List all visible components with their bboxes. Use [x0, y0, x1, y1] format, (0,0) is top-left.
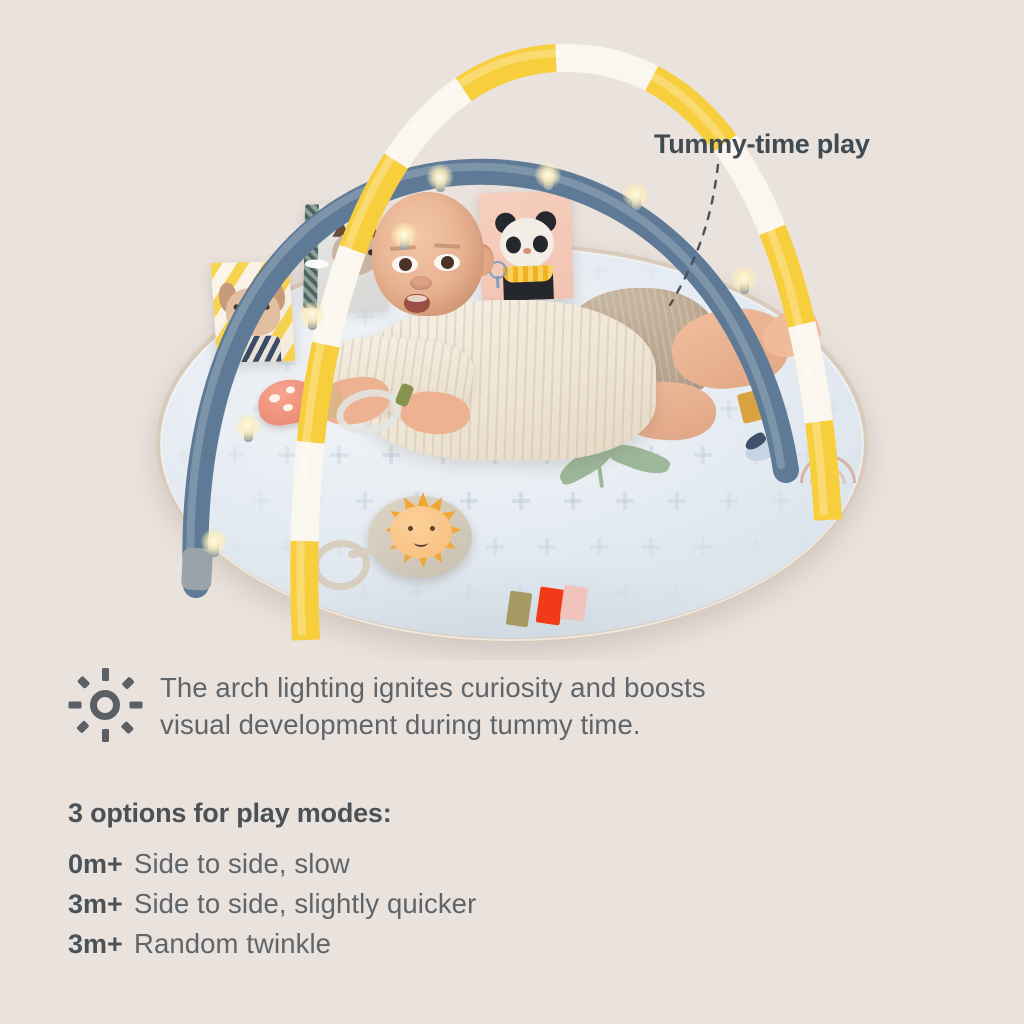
- sun-icon-ray: [77, 676, 90, 689]
- ribbon-tag-olive: [506, 591, 533, 628]
- arch-led-light: [731, 266, 757, 292]
- play-modes-title: 3 options for play modes:: [68, 798, 392, 829]
- play-mode-age: 3m+: [68, 889, 130, 920]
- arch-led-light: [391, 222, 417, 248]
- feature-description-line-1: The arch lighting ignites curiosity and …: [160, 670, 706, 707]
- callout-label: Tummy-time play: [654, 129, 870, 160]
- sun-icon-ray: [102, 729, 109, 742]
- panda-collar: [503, 265, 554, 283]
- ribbon-tag-red: [536, 587, 565, 626]
- cat-eye-left: [342, 249, 348, 255]
- sun-icon-ring: [90, 690, 120, 720]
- arch-led-light: [201, 529, 227, 555]
- feature-description-line-2: visual development during tummy time.: [160, 707, 706, 744]
- sun-icon-ray: [76, 720, 89, 733]
- cat-blush-left: [334, 255, 343, 260]
- feature-block: The arch lighting ignites curiosity and …: [68, 666, 968, 743]
- feature-row: The arch lighting ignites curiosity and …: [68, 666, 968, 743]
- play-mode-description: Random twinkle: [134, 928, 331, 960]
- ribbon-tag-pink: [560, 584, 588, 621]
- dog-soft-book: [210, 261, 295, 362]
- baby-eye-left: [392, 256, 418, 273]
- baby-mouth: [404, 294, 430, 313]
- dog-eye-right: [263, 304, 269, 310]
- dog-eye-left: [233, 304, 239, 310]
- arch-led-light: [623, 182, 649, 208]
- sun-icon-ray: [69, 702, 82, 709]
- sun-icon-ray: [121, 676, 134, 689]
- play-mode-row: 3m+ Side to side, slightly quicker: [68, 888, 476, 920]
- sun-brightness-icon: [68, 668, 142, 742]
- play-mode-description: Side to side, slightly quicker: [134, 888, 476, 920]
- arch-led-light: [535, 162, 561, 188]
- play-mode-description: Side to side, slow: [134, 848, 350, 880]
- play-modes-list: 0m+ Side to side, slow 3m+ Side to side,…: [68, 848, 476, 968]
- arch-led-light: [235, 414, 261, 440]
- photo-stage: Tummy-time play: [0, 0, 1024, 660]
- arch-led-light: [427, 164, 453, 190]
- play-mode-age: 0m+: [68, 849, 130, 880]
- panda-soft-book: [478, 190, 574, 301]
- baby-nose: [410, 276, 432, 290]
- arch-led-light: [299, 302, 325, 328]
- play-mode-row: 3m+ Random twinkle: [68, 928, 476, 960]
- sun-icon-ray: [130, 702, 143, 709]
- product-photo: Tummy-time play: [0, 0, 1024, 660]
- play-mode-row: 0m+ Side to side, slow: [68, 848, 476, 880]
- dog-shirt: [230, 336, 282, 363]
- sun-icon-ray: [102, 668, 109, 681]
- sun-icon-ray: [121, 721, 134, 734]
- feature-description: The arch lighting ignites curiosity and …: [160, 666, 706, 743]
- baby-eye-right: [434, 254, 460, 271]
- cat-book-flower: [303, 248, 332, 279]
- sun-rattle-face: [390, 506, 452, 558]
- play-mode-age: 3m+: [68, 929, 130, 960]
